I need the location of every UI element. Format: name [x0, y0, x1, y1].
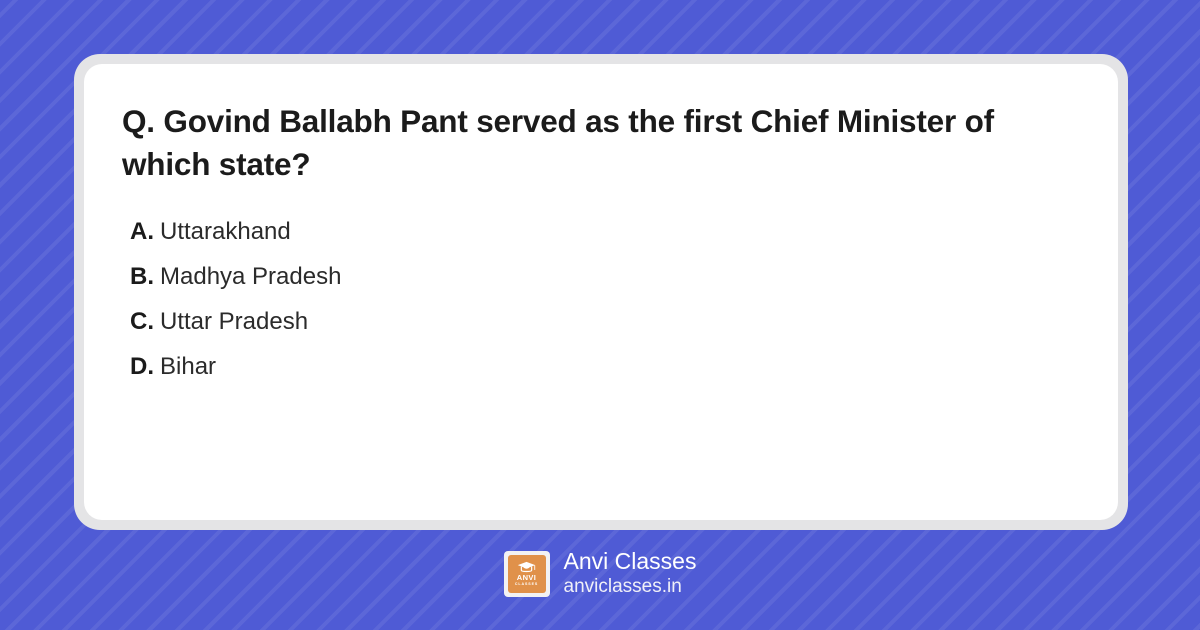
option-a[interactable]: A. Uttarakhand: [122, 209, 1080, 254]
quiz-card-frame: Q. Govind Ballabh Pant served as the fir…: [74, 54, 1128, 530]
option-a-text: Uttarakhand: [160, 209, 291, 254]
option-d-letter: D.: [130, 344, 160, 389]
brand-name: Anvi Classes: [564, 548, 697, 575]
option-c-text: Uttar Pradesh: [160, 299, 308, 344]
brand-logo-name: ANVI: [517, 574, 537, 582]
brand-text-block: Anvi Classes anviclasses.in: [564, 548, 697, 599]
brand-logo-tile: ANVI CLASSES: [508, 555, 546, 593]
option-b[interactable]: B. Madhya Pradesh: [122, 254, 1080, 299]
brand-url[interactable]: anviclasses.in: [564, 575, 697, 599]
brand-logo-subtitle: CLASSES: [515, 583, 538, 587]
option-b-text: Madhya Pradesh: [160, 254, 341, 299]
question-text: Q. Govind Ballabh Pant served as the fir…: [122, 100, 1080, 187]
graduation-cap-icon: [517, 561, 536, 573]
brand-logo: ANVI CLASSES: [504, 551, 550, 597]
quiz-card: Q. Govind Ballabh Pant served as the fir…: [84, 64, 1118, 520]
option-d-text: Bihar: [160, 344, 216, 389]
option-c[interactable]: C. Uttar Pradesh: [122, 299, 1080, 344]
footer-branding: ANVI CLASSES Anvi Classes anviclasses.in: [0, 548, 1200, 599]
option-a-letter: A.: [130, 209, 160, 254]
option-b-letter: B.: [130, 254, 160, 299]
option-c-letter: C.: [130, 299, 160, 344]
options-list: A. Uttarakhand B. Madhya Pradesh C. Utta…: [122, 209, 1080, 389]
option-d[interactable]: D. Bihar: [122, 344, 1080, 389]
